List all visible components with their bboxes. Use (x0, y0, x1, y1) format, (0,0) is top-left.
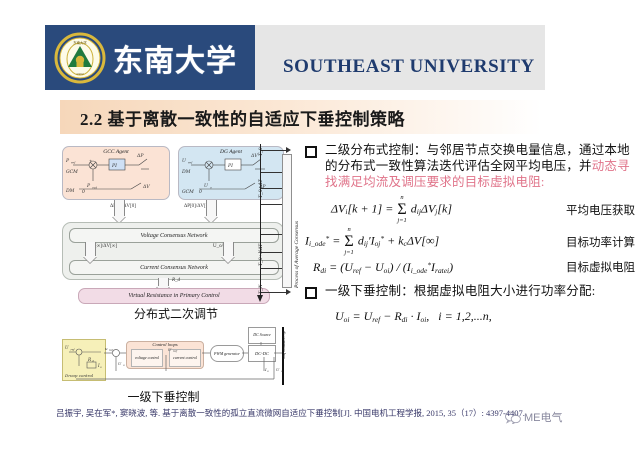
university-name-cn: 东南大学 (113, 36, 237, 80)
bullet-primary-text: 一级下垂控制：根据虚拟电阻大小进行功率分配: (325, 283, 595, 299)
axis-tick-t0-dt: T_0+ΔT (258, 179, 264, 198)
consensus-span-arrow (282, 154, 292, 288)
svg-text:P: P (86, 183, 91, 189)
formula-2-label: 目标功率计算 (556, 234, 635, 250)
formula-group-secondary: ΔVi[k + 1] = n Σ j=1 dijΔVj[k] 平均电压获取 Ii… (305, 195, 635, 275)
slide-root: 东南大学 1902 东南大学 SOUTHEAST UNIVERSITY 2.2 … (0, 0, 640, 452)
bullet-secondary-text: 二级分布式控制：与邻居节点交换电量信息，通过本地的分布式一致性算法迭代评估全网平… (325, 142, 635, 190)
secondary-control-diagram: GCC Agent (56, 142, 296, 302)
average-consensus-axis: T_0 T_0+ΔT T_0+NΔT T_N Process of Averag… (252, 142, 296, 302)
gcc-agent-block: GCC Agent (62, 146, 170, 200)
axis-tick-t0: T_0 (258, 147, 264, 156)
page-title: 2.2 基于离散一致性的自适应下垂控制策略 (80, 105, 405, 130)
section-title-bar: 2.2 基于离散一致性的自适应下垂控制策略 (60, 100, 542, 134)
figure2-caption: 一级下垂控制 (56, 388, 271, 405)
formula-row-3: Rdi = (Uref − Uoi) / (Ii_ode*Iratei) 目标虚… (305, 259, 635, 275)
svg-text:u: u (105, 346, 108, 351)
svg-text:ref: ref (173, 349, 178, 353)
figure1-caption: 分布式二次调节 (56, 305, 296, 322)
header-name-panel: SOUTHEAST UNIVERSITY (255, 25, 545, 90)
wechat-watermark: ME电气 (505, 406, 635, 428)
axis-title: Process of Average Consensus (294, 221, 300, 288)
svg-text:DM: DM (65, 188, 75, 194)
flow-arrow-right (206, 200, 217, 216)
axis-tick-t0-ndt: T_0+NΔT (258, 244, 264, 266)
seu-emblem-logo: 东南大学 1902 (53, 31, 107, 85)
flow-arrow-left (114, 200, 125, 216)
left-figure-column: GCC Agent (56, 142, 296, 412)
rd-output-label: R_d (172, 278, 180, 283)
svg-text:o: o (281, 369, 283, 373)
formula-2-math: Ii_ode* = n Σ j=1 dij′Ioj* + kcΔV[∞] (305, 227, 439, 256)
svg-text:U: U (182, 158, 186, 164)
summation-icon: n Σ j=1 (344, 227, 353, 256)
citation-footer: 吕振宇, 吴在军*, 窦晓波, 等. 基于离散一致性的孤立直流微网自适应下垂控制… (56, 408, 526, 419)
hollow-square-bullet-icon (305, 287, 317, 299)
svg-text:U: U (118, 361, 122, 366)
axis-tick-tn: T_N (258, 285, 264, 294)
header-logo-panel: 东南大学 1902 东南大学 (45, 25, 255, 90)
svg-text:o: o (123, 363, 125, 367)
svg-text:o: o (267, 369, 269, 373)
axis-line (260, 144, 261, 296)
svg-text:GCM: GCM (66, 169, 78, 175)
consensus-network-group: Voltage Consensus Network Current Consen… (62, 222, 284, 280)
formula-row-2: Ii_ode* = n Σ j=1 dij′Ioj* + kcΔV[∞] 目标功… (305, 227, 635, 256)
svg-text:U: U (276, 367, 280, 372)
svg-text:GCM: GCM (182, 189, 194, 195)
wechat-icon (505, 411, 521, 424)
svg-text:1902: 1902 (76, 72, 84, 76)
svg-text:DM: DM (181, 169, 191, 175)
virtual-resistance-block: Virtual Resistance in Primary Control (78, 288, 270, 304)
svg-text:U: U (204, 183, 208, 189)
svg-text:o: o (210, 185, 212, 189)
svg-text:ref: ref (71, 161, 76, 165)
right-content-column: 二级分布式控制：与邻居节点交换电量信息，通过本地的分布式一致性算法迭代评估全网平… (305, 142, 635, 327)
current-consensus-network: Current Consensus Network (69, 260, 279, 275)
svg-text:0: 0 (199, 189, 202, 195)
svg-text:ΔP: ΔP (136, 153, 144, 159)
axis-arrow (261, 150, 287, 151)
svg-text:P: P (65, 158, 70, 164)
flow-arrow-output (158, 278, 169, 286)
formula-3-label: 目标虚拟电阻 (556, 259, 635, 275)
flow-arrow-inner-right (223, 242, 234, 256)
svg-text:PI: PI (111, 163, 117, 169)
svg-text:U: U (168, 347, 172, 352)
watermark-label: ME电气 (524, 409, 563, 425)
bullet-secondary-black: 二级分布式控制：与邻居节点交换电量信息，通过本地的分布式一致性算法迭代评估全网平… (325, 143, 630, 173)
primary-droop-diagram: Uref Rd Io Droop control Control loops v… (56, 327, 296, 387)
svg-text:out: out (92, 185, 98, 189)
svg-text:PI: PI (227, 163, 233, 169)
bullet-item-primary-droop: 一级下垂控制：根据虚拟电阻大小进行功率分配: (305, 283, 635, 299)
hollow-square-bullet-icon (305, 146, 317, 158)
voltage-consensus-network: Voltage Consensus Network (69, 228, 279, 243)
formula-1-label: 平均电压获取 (556, 202, 635, 218)
slide-header: 东南大学 1902 东南大学 SOUTHEAST UNIVERSITY (45, 25, 545, 90)
formula-row-1: ΔVi[k + 1] = n Σ j=1 dijΔVj[k] 平均电压获取 (305, 195, 635, 224)
svg-text:ΔV: ΔV (142, 184, 150, 190)
summation-icon: n Σ j=1 (397, 195, 406, 224)
svg-text:东南大学: 东南大学 (73, 40, 87, 45)
formula-1-math: ΔVi[k + 1] = n Σ j=1 dijΔVj[k] (331, 195, 452, 224)
formula-4-math: Uoi = Uref − Rdi · Ioi, i = 1,2,...n, (335, 309, 492, 324)
university-name-en: SOUTHEAST UNIVERSITY (283, 56, 535, 78)
formula-3-math: Rdi = (Uref − Uoi) / (Ii_ode*Iratei) (313, 260, 453, 275)
svg-text:ref: ref (188, 161, 193, 165)
bullet-item-secondary-control: 二级分布式控制：与邻居节点交换电量信息，通过本地的分布式一致性算法迭代评估全网平… (305, 142, 635, 190)
svg-text:0: 0 (82, 189, 85, 195)
formula-row-4: Uoi = Uref − Rdi · Ioi, i = 1,2,...n, (305, 309, 635, 324)
axis-arrow (261, 292, 287, 293)
svg-text:+: + (89, 158, 92, 163)
flow-arrow-inner-left (85, 242, 96, 256)
